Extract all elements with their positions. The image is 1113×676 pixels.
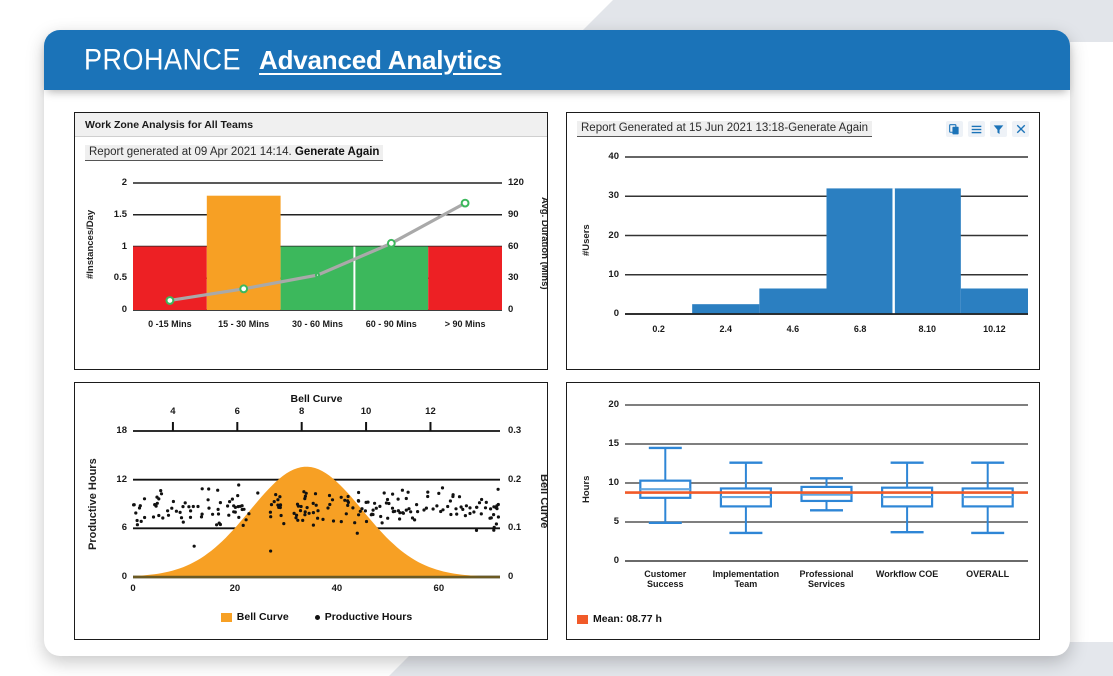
filter-icon[interactable] xyxy=(990,121,1007,137)
legend-swatch-bell-curve xyxy=(221,613,232,622)
y-tick-right: 0.3 xyxy=(508,425,521,436)
y-axis-label-right: Bell Curve xyxy=(538,474,548,528)
legend-item-mean: Mean: 08.77 h xyxy=(577,613,662,625)
x-category-label: 8.10 xyxy=(894,324,961,334)
y-axis-label-left: Productive Hours xyxy=(87,458,99,550)
top-axis-tick: 8 xyxy=(290,406,314,417)
top-axis-tick: 4 xyxy=(161,406,185,417)
y-tick-left: 12 xyxy=(101,474,127,485)
top-axis-tick: 12 xyxy=(418,406,442,417)
boxplot-plot-area xyxy=(567,383,1040,639)
app-header: PROHANCE Advanced Analytics xyxy=(44,30,1070,90)
y-tick-left: 6 xyxy=(101,522,127,533)
y-tick: 15 xyxy=(593,438,619,449)
x-category-label: 30 - 60 Mins xyxy=(281,319,355,329)
x-category-label: 0.2 xyxy=(625,324,692,334)
top-axis-tick: 6 xyxy=(225,406,249,417)
y-tick: 20 xyxy=(593,399,619,410)
y-tick: 20 xyxy=(593,230,619,241)
y-tick-right: 0.2 xyxy=(508,474,521,485)
legend-label-mean: Mean: 08.77 h xyxy=(593,613,662,625)
y-tick-left: 0.5 xyxy=(103,272,127,283)
top-axis-tick: 10 xyxy=(354,406,378,417)
x-category-label: Implementation Team xyxy=(706,569,787,590)
x-tick: 40 xyxy=(323,583,351,594)
y-axis-label: #Users xyxy=(581,224,592,256)
y-tick: 0 xyxy=(593,308,619,319)
panel-bell-curve: Bell Curve468101206121800.10.20.30204060… xyxy=(74,382,548,640)
y-tick-right: 30 xyxy=(508,272,519,283)
y-tick-right: 60 xyxy=(508,241,519,252)
x-category-label: > 90 Mins xyxy=(428,319,502,329)
panel-work-zone-title: Work Zone Analysis for All Teams xyxy=(75,113,547,137)
panel-work-zone: Work Zone Analysis for All Teams Report … xyxy=(74,112,548,370)
y-tick-right: 90 xyxy=(508,209,519,220)
histogram-report-row: Report Generated at 15 Jun 2021 13:18-Ge… xyxy=(567,113,1039,141)
x-category-label: Professional Services xyxy=(786,569,867,590)
legend-label-bell-curve: Bell Curve xyxy=(237,611,289,623)
x-category-label: 6.8 xyxy=(827,324,894,334)
x-category-label: 0 -15 Mins xyxy=(133,319,207,329)
x-category-label: Customer Success xyxy=(625,569,706,590)
x-category-label: 60 - 90 Mins xyxy=(354,319,428,329)
y-tick-right: 0 xyxy=(508,571,513,582)
panel-grid: Work Zone Analysis for All Teams Report … xyxy=(74,112,1040,640)
y-tick: 5 xyxy=(593,516,619,527)
boxplot-chart: 05101520HoursCustomer SuccessImplementat… xyxy=(567,383,1039,639)
x-tick: 60 xyxy=(425,583,453,594)
close-icon[interactable] xyxy=(1012,121,1029,137)
histogram-plot-area xyxy=(567,141,1040,354)
y-tick: 0 xyxy=(593,555,619,566)
histogram-report-text[interactable]: Report Generated at 15 Jun 2021 13:18-Ge… xyxy=(577,121,872,137)
list-icon[interactable] xyxy=(968,121,985,137)
panel-boxplot: 05101520HoursCustomer SuccessImplementat… xyxy=(566,382,1040,640)
work-zone-report-prefix: Report generated at 09 Apr 2021 14:14. xyxy=(89,146,292,158)
x-category-label: 4.6 xyxy=(759,324,826,334)
y-tick-left: 1.5 xyxy=(103,209,127,220)
bell-curve-plot-area xyxy=(75,383,548,639)
x-tick: 20 xyxy=(221,583,249,594)
x-category-label: 10.12 xyxy=(961,324,1028,334)
y-tick-left: 18 xyxy=(101,425,127,436)
panel-histogram: Report Generated at 15 Jun 2021 13:18-Ge… xyxy=(566,112,1040,370)
y-tick-left: 1 xyxy=(103,241,127,252)
legend-item-bell-curve: Bell Curve xyxy=(221,611,289,623)
y-tick-left: 0 xyxy=(103,304,127,315)
legend-item-productive-hours: Productive Hours xyxy=(315,611,413,623)
histogram-toolbar xyxy=(946,121,1029,137)
prohance-logo: PROHANCE xyxy=(84,43,241,76)
y-tick-right: 0 xyxy=(508,304,513,315)
y-tick: 30 xyxy=(593,190,619,201)
work-zone-report-text[interactable]: Report generated at 09 Apr 2021 14:14. G… xyxy=(85,145,383,161)
y-tick-left: 0 xyxy=(101,571,127,582)
x-category-label: Workflow COE xyxy=(867,569,948,579)
work-zone-generate-again-link[interactable]: Generate Again xyxy=(295,146,380,158)
copy-icon[interactable] xyxy=(946,121,963,137)
bell-curve-legend: Bell CurveProductive Hours xyxy=(75,611,548,623)
boxplot-legend: Mean: 08.77 h xyxy=(577,613,662,625)
bell-curve-title: Bell Curve xyxy=(75,393,548,405)
legend-swatch-mean xyxy=(577,615,588,624)
histogram-chart: 010203040#Users0.22.44.66.88.1010.12 xyxy=(567,141,1039,354)
page-title: Advanced Analytics xyxy=(259,45,502,76)
legend-label-productive-hours: Productive Hours xyxy=(325,611,413,623)
y-tick-right: 0.1 xyxy=(508,522,521,533)
y-axis-label-right: Avg. Duration (Mins) xyxy=(539,197,548,290)
x-tick: 0 xyxy=(119,583,147,594)
y-tick-right: 120 xyxy=(508,177,524,188)
bell-curve-chart: Bell Curve468101206121800.10.20.30204060… xyxy=(75,383,547,639)
work-zone-report-row: Report generated at 09 Apr 2021 14:14. G… xyxy=(75,137,547,165)
x-category-label: OVERALL xyxy=(947,569,1028,579)
x-category-label: 2.4 xyxy=(692,324,759,334)
y-tick: 10 xyxy=(593,477,619,488)
y-tick: 40 xyxy=(593,151,619,162)
y-axis-label-left: #Instances/Day xyxy=(85,209,96,278)
dashboard-card: PROHANCE Advanced Analytics Work Zone An… xyxy=(44,30,1070,656)
x-category-label: 15 - 30 Mins xyxy=(207,319,281,329)
y-tick-left: 2 xyxy=(103,177,127,188)
legend-dot-productive-hours xyxy=(315,615,320,620)
work-zone-chart: 00.511.520306090120#Instances/DayAvg. Du… xyxy=(75,165,547,350)
y-tick: 10 xyxy=(593,269,619,280)
y-axis-label: Hours xyxy=(581,476,592,503)
